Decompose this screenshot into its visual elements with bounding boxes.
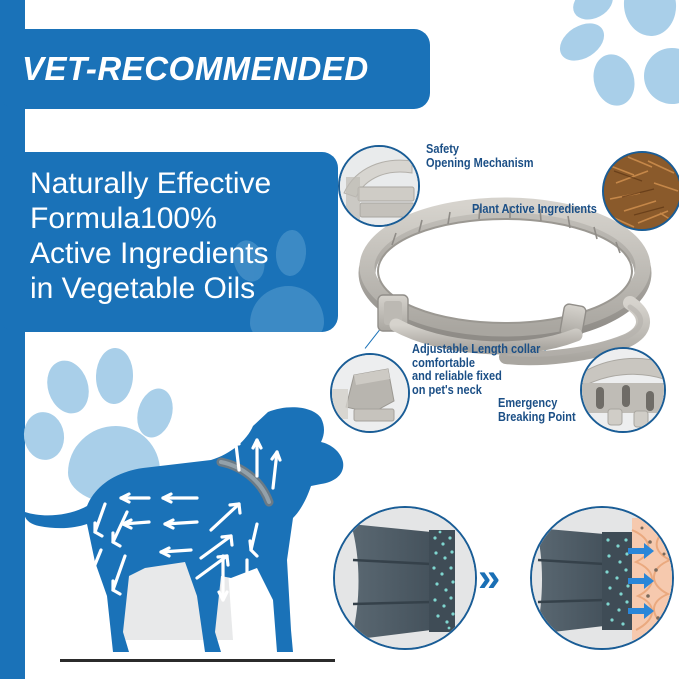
release-step-before [333,506,477,650]
label-breaking-line-1: Emergency [498,397,576,411]
label-emergency-breaking: Emergency Breaking Point [498,397,576,424]
dog-diffusion-illustration [25,400,375,679]
headline-line-4: in Vegetable Oils [30,271,338,306]
collar-diagram: Safety Opening Mechanism Plant Active In… [330,135,679,455]
breakpoint-closeup-art [582,349,664,431]
buckle-closeup-art [340,147,418,225]
headline-line-1: Naturally Effective [30,166,338,201]
headline-text-block: Naturally Effective Formula100% Active I… [0,152,338,306]
dog-ground-line [60,659,335,662]
label-adjustable-line-4: on pet's neck [412,384,540,398]
dog-silhouette-art [25,400,375,679]
paw-toe [621,0,679,39]
paw-toe [588,49,641,110]
label-adjustable-line-2: comfortable [412,357,540,371]
headline-line-3: Active Ingredients [30,236,338,271]
label-plant-line-1: Plant Active Ingredients [472,203,597,217]
release-step-after [530,506,674,650]
paw-pad [640,44,679,109]
vet-recommended-badge: VET-RECOMMENDED [0,29,430,109]
detail-circle-breakpoint-closeup [580,347,666,433]
label-adjustable-line-1: Adjustable Length collar [412,343,540,357]
paw-toe [567,0,618,26]
paw-print-top-right [528,0,679,112]
label-safety-line-2: Opening Mechanism [426,157,534,171]
label-breaking-line-2: Breaking Point [498,411,576,425]
detail-circle-buckle-closeup [338,145,420,227]
cross-section-before-art [335,508,475,648]
vet-recommended-label: VET-RECOMMENDED [0,50,369,88]
headline-line-2: Formula100% [30,201,338,236]
cross-section-after-art [532,508,672,648]
label-safety-opening: Safety Opening Mechanism [426,143,534,170]
label-adjustable-length: Adjustable Length collar comfortable and… [412,343,540,397]
infographic-canvas: VET-RECOMMENDED Naturally Effective Form… [0,0,679,679]
label-safety-line-1: Safety [426,143,534,157]
herbs-closeup-art [604,153,679,229]
label-adjustable-line-3: and reliable fixed [412,370,540,384]
release-step-chevron: » [478,558,500,598]
paw-toe [95,347,134,404]
detail-circle-herbs-closeup [602,151,679,231]
headline-panel: Naturally Effective Formula100% Active I… [0,152,338,332]
label-plant-active: Plant Active Ingredients [472,203,597,217]
